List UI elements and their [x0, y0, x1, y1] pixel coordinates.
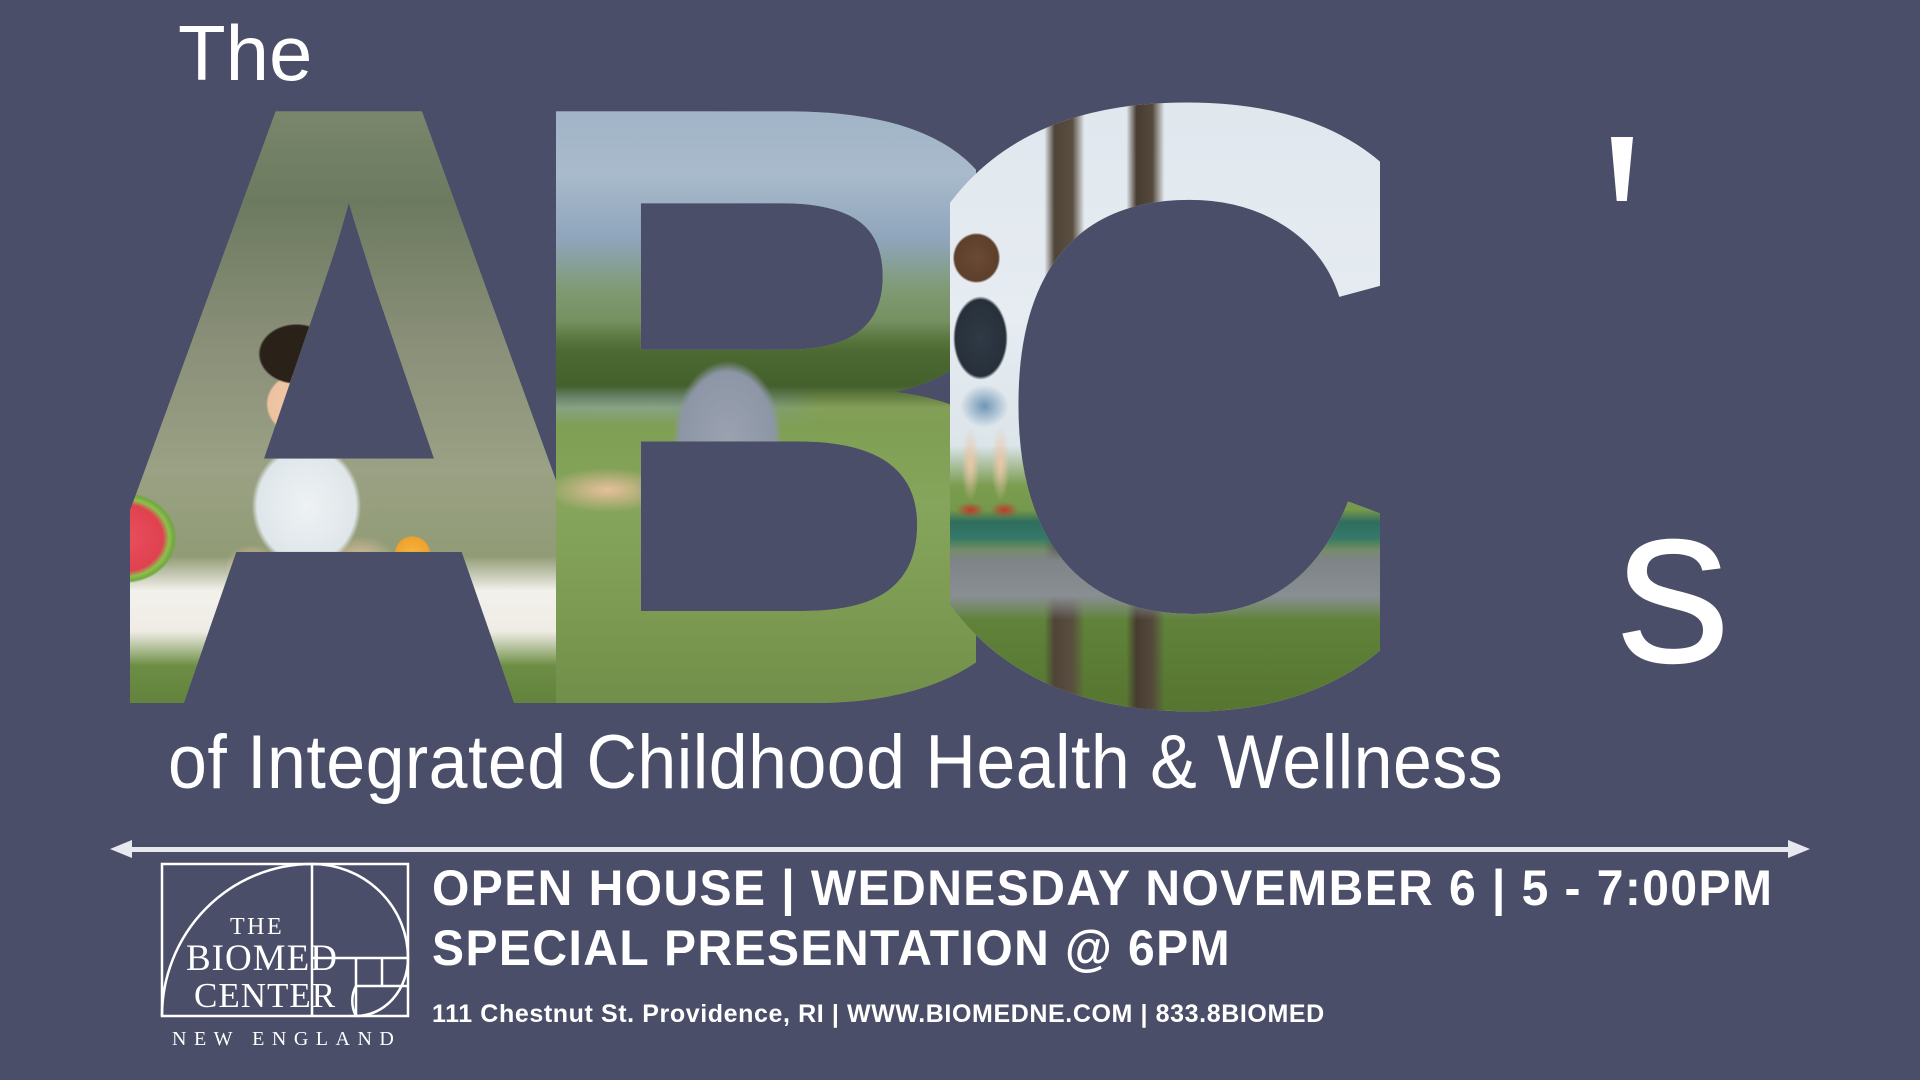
headline-subtitle: of Integrated Childhood Health & Wellnes…: [168, 725, 1658, 801]
photo-letter-c: C: [950, 86, 1380, 726]
photo-letter-a: A: [130, 86, 560, 726]
divider-arrow: [110, 840, 1810, 858]
event-line-open-house: OPEN HOUSE | WEDNESDAY NOVEMBER 6 | 5 - …: [432, 858, 1728, 918]
event-details: OPEN HOUSE | WEDNESDAY NOVEMBER 6 | 5 - …: [432, 858, 1782, 1029]
letter-a-glyph: A: [130, 86, 560, 726]
letter-b-glyph: B: [556, 86, 976, 726]
photo-letter-b: B: [556, 86, 976, 726]
logo-line-new-england: NEW ENGLAND: [172, 1028, 401, 1050]
contact-address-line: 111 Chestnut St. Providence, RI | WWW.BI…: [432, 1000, 1782, 1029]
logo-line-center: CENTER: [194, 976, 336, 1015]
headline-plural-s: s: [1616, 468, 1731, 698]
divider-bar: [124, 847, 1796, 852]
event-line-presentation: SPECIAL PRESENTATION @ 6PM: [432, 918, 1728, 978]
letter-c-glyph: C: [950, 86, 1380, 726]
arrow-head-right-icon: [1788, 840, 1810, 858]
logo-line-the: THE: [230, 914, 284, 940]
headline-the: The: [178, 14, 312, 92]
poster-canvas: The A B C s of Integrated Childhood Heal…: [0, 0, 1920, 1080]
biomed-center-logo: THE BIOMED CENTER NEW ENGLAND: [160, 862, 410, 1052]
logo-line-biomed: BIOMED: [186, 938, 338, 979]
